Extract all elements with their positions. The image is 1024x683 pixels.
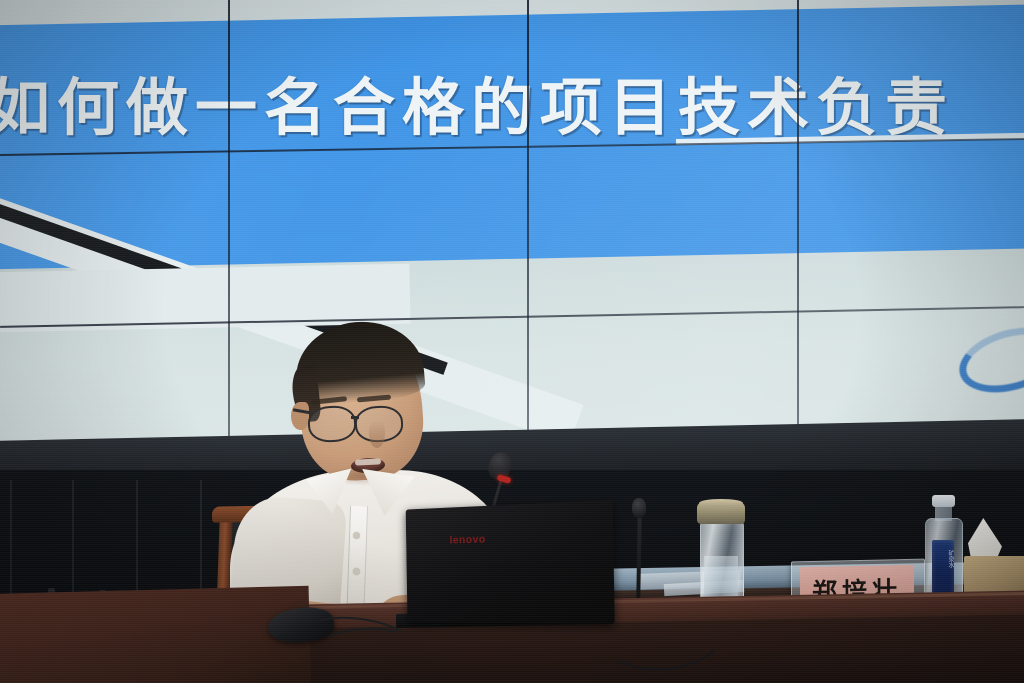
water-bottle-label-text: 矿泉水 — [932, 550, 954, 568]
microphone-icon[interactable] — [632, 498, 646, 518]
desk-left-section — [0, 586, 311, 683]
video-wall-seam-vertical — [228, 0, 230, 470]
water-bottle-neck — [935, 505, 952, 521]
cabinet-seam — [10, 480, 12, 610]
cabinet-seam — [72, 480, 74, 610]
eyeglasses-bridge — [351, 416, 359, 419]
shirt-button — [353, 568, 360, 575]
shirt-button — [353, 532, 360, 539]
video-wall-seam-vertical — [797, 0, 799, 470]
speaker-ear — [291, 402, 309, 430]
water-bottle-cap[interactable] — [932, 495, 955, 507]
lenovo-logo: lenovo — [449, 534, 485, 547]
laptop-icon[interactable]: lenovo — [406, 500, 615, 624]
photo-scene: 如何做一名合格的项目技术负责 — [0, 0, 1024, 683]
speaker-nose — [369, 420, 385, 448]
slide-title: 如何做一名合格的项目技术负责 — [0, 57, 1024, 147]
tumbler-cap-top — [699, 499, 743, 507]
